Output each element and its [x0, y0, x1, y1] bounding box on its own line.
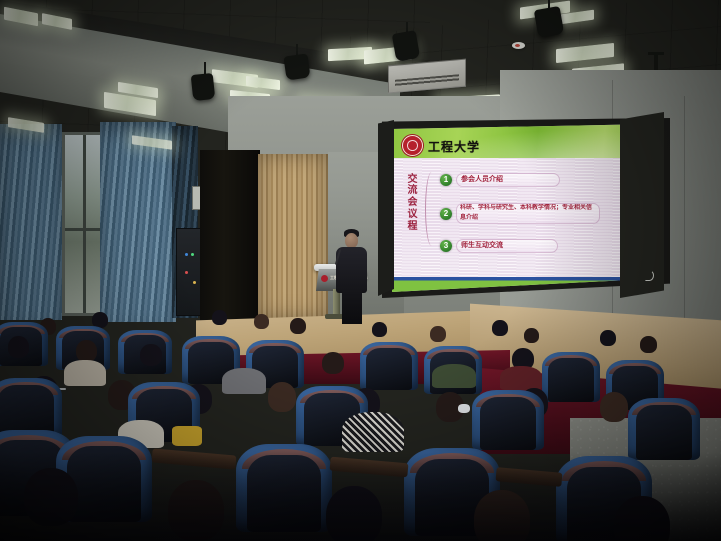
slide-bullet-3: 3 师生互动交流 [440, 240, 558, 253]
wood-acoustic-panel [258, 154, 328, 318]
speaker-body [336, 247, 367, 293]
audience-bag [172, 426, 202, 446]
bullet-text: 参会人员介绍 [456, 173, 560, 187]
auditorium-seat[interactable] [542, 352, 600, 402]
audience-head [212, 310, 227, 325]
brace-decoration [425, 172, 436, 246]
window-curtain [100, 122, 176, 322]
audience-head [600, 392, 628, 422]
screen-corner-mark [645, 270, 654, 281]
auditorium-seat[interactable] [472, 390, 544, 450]
audience-head [8, 336, 29, 358]
audience-head [76, 340, 97, 362]
stage-side-curtain [200, 150, 260, 322]
audience-head [140, 344, 162, 366]
audience-shoulders [500, 366, 542, 390]
stage-spotlight [283, 53, 310, 80]
audience-shoulders [432, 364, 476, 388]
audience-head [430, 326, 446, 342]
audience-head [268, 382, 296, 412]
auditorium-seat[interactable] [360, 342, 418, 390]
audience-shoulders [342, 412, 404, 452]
bullet-number: 3 [440, 240, 452, 252]
slide-bullet-1: 1 参会人员介绍 [440, 174, 560, 187]
presentation-slide: 工程大学 交流会议程 1 参会人员介绍 2 科研、学科与研究生、本科教学情况；专… [392, 124, 656, 292]
slide-body: 交流会议程 1 参会人员介绍 2 科研、学科与研究生、本科教学情况；专业相关信息… [392, 158, 656, 277]
audience-head [640, 336, 657, 353]
window-curtain [0, 124, 62, 320]
slide-vertical-label: 交流会议程 [406, 174, 419, 233]
podium-stem [333, 289, 340, 317]
audience-head [254, 314, 269, 329]
audience-head [492, 320, 508, 336]
auditorium-seat[interactable] [0, 378, 62, 438]
wall-seam [684, 96, 685, 336]
university-seal-icon [402, 135, 423, 156]
audience-head [524, 328, 539, 343]
smoke-detector-icon [512, 42, 525, 49]
stage-spotlight [534, 6, 564, 38]
auditorium-photo: 工程大学 交流会议程 1 参会人员介绍 2 科研、学科与研究生、本科教学情况；专… [0, 0, 721, 541]
bullet-number: 2 [440, 208, 452, 220]
bullet-text: 科研、学科与研究生、本科教学情况；专业相关信息介绍 [456, 203, 600, 224]
slide-bullet-2: 2 科研、学科与研究生、本科教学情况；专业相关信息介绍 [440, 204, 600, 224]
audience-head [290, 318, 306, 334]
auditorium-seat[interactable] [628, 398, 700, 460]
university-name: 工程大学 [428, 138, 480, 155]
podium-emblem-icon [321, 275, 328, 282]
face-mask [458, 404, 470, 413]
speaker-head [345, 233, 358, 248]
audience-shoulders [64, 360, 106, 386]
foreground-shadow [0, 452, 721, 541]
screen-right-border [620, 112, 664, 298]
screen-left-border [378, 120, 394, 296]
bullet-text: 师生互动交流 [456, 239, 558, 253]
audience-head [372, 322, 387, 337]
bullet-number: 1 [440, 174, 452, 186]
speaker-legs [342, 290, 362, 324]
audience-head [600, 330, 616, 346]
audience-shoulders [222, 368, 266, 394]
stage-spotlight [392, 30, 420, 62]
audience-head [322, 352, 344, 374]
stage-spotlight [191, 73, 216, 101]
